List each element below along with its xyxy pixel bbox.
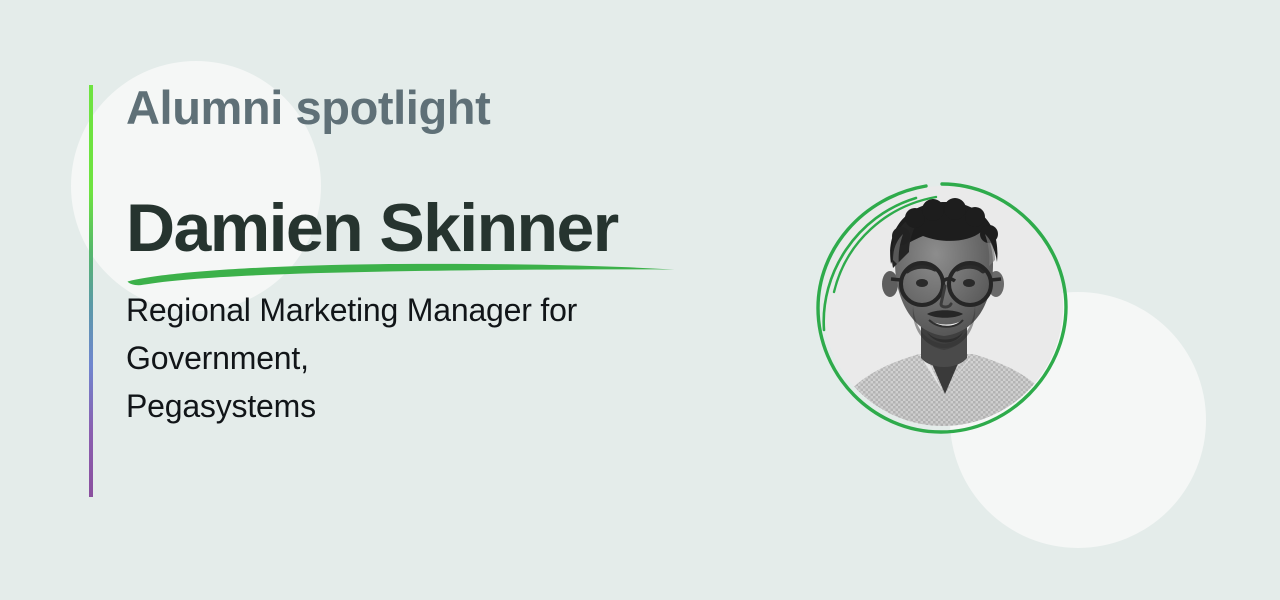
alumni-spotlight-card: Alumni spotlight Damien Skinner Regional… [0,0,1280,600]
person-role: Regional Marketing Manager for Governmen… [126,286,726,430]
text-block: Alumni spotlight Damien Skinner Regional… [126,80,726,430]
person-name: Damien Skinner [126,190,726,266]
name-with-underline: Damien Skinner [126,190,726,282]
eyebrow-label: Alumni spotlight [126,80,726,136]
portrait-zone [800,170,1080,450]
gradient-accent-rule-icon [89,85,93,497]
portrait-photo [823,186,1063,426]
